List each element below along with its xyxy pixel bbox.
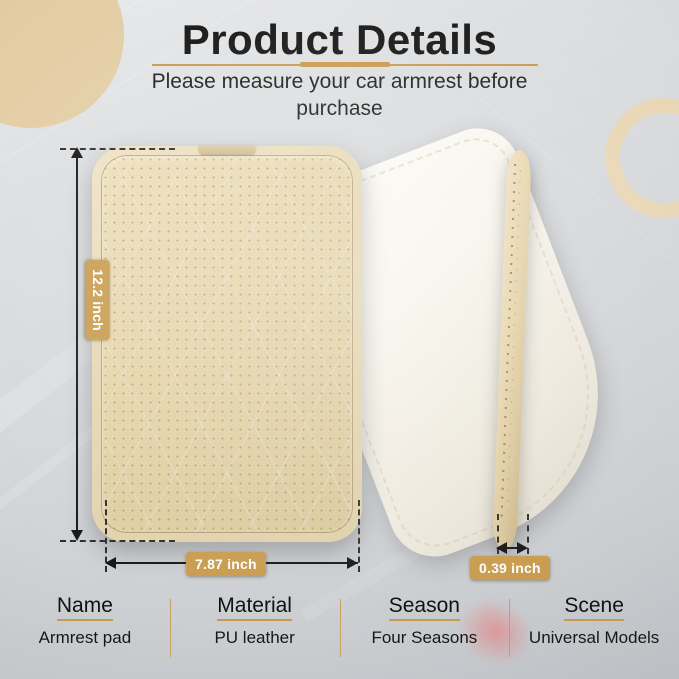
width-arrow-right-icon: [347, 557, 358, 569]
spec-item-material: Material PU leather: [170, 595, 340, 665]
spec-value: Armrest pad: [39, 628, 132, 648]
title-underline-accent: [300, 62, 390, 67]
armrest-pad-image: [92, 146, 362, 542]
thickness-dimension-badge: 0.39 inch: [470, 556, 550, 580]
spec-title: Scene: [564, 595, 624, 621]
width-guide-right: [358, 500, 360, 572]
thickness-arrow-right-icon: [517, 542, 528, 554]
armrest-pad-quilted-surface: [101, 155, 353, 533]
page-subtitle: Please measure your car armrest before p…: [120, 69, 559, 123]
spec-value: PU leather: [214, 628, 294, 648]
spec-title: Season: [389, 595, 460, 621]
page-title: Product Details: [0, 16, 679, 64]
height-dimension-line: [76, 152, 78, 536]
height-arrow-up-icon: [71, 147, 83, 158]
spec-item-scene: Scene Universal Models: [509, 595, 679, 665]
height-arrow-down-icon: [71, 530, 83, 541]
width-dimension-badge: 7.87 inch: [186, 552, 266, 576]
width-arrow-left-icon: [105, 557, 116, 569]
product-details-infographic: Product Details Please measure your car …: [0, 0, 679, 679]
height-dimension-badge: 12.2 inch: [86, 260, 110, 340]
spec-row: Name Armrest pad Material PU leather Sea…: [0, 595, 679, 665]
spec-title: Material: [217, 595, 292, 621]
spec-value: Four Seasons: [371, 628, 477, 648]
spec-item-name: Name Armrest pad: [0, 595, 170, 665]
thickness-arrow-left-icon: [496, 542, 507, 554]
spec-value: Universal Models: [529, 628, 659, 648]
spec-title: Name: [57, 595, 113, 621]
spec-item-season: Season Four Seasons: [340, 595, 510, 665]
decorative-ring: [605, 98, 679, 218]
armrest-pad-tab: [199, 145, 255, 154]
